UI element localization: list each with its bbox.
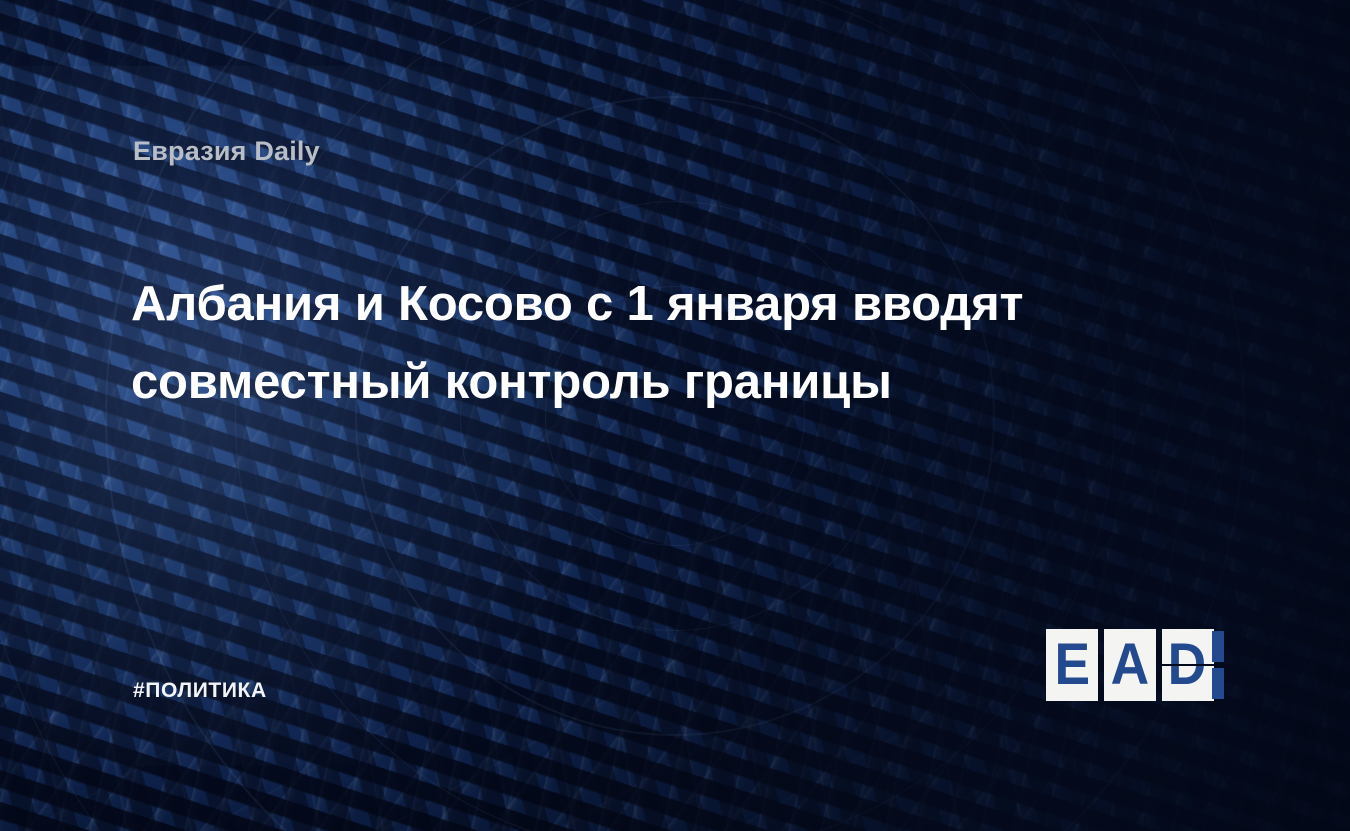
logo-letter-a: A [1111, 636, 1150, 694]
logo-letter-d-top: D [1168, 629, 1207, 664]
publisher-watermark: Евразия Daily [133, 136, 320, 167]
social-share-card: Евразия Daily Албания и Косово с 1 январ… [0, 0, 1350, 831]
logo-letter-d-bottom: D [1168, 666, 1207, 701]
logo-d-overhang-top [1212, 631, 1224, 662]
eadaily-logo[interactable]: E A D D [1046, 629, 1214, 701]
logo-tile-d-top-half: D [1162, 629, 1214, 664]
logo-tile-a: A [1104, 629, 1156, 701]
category-hashtag[interactable]: #ПОЛИТИКА [133, 679, 267, 703]
logo-tile-d: D D [1162, 629, 1214, 701]
logo-tile-d-bottom-half: D [1162, 666, 1214, 701]
logo-letter-e: E [1054, 636, 1090, 694]
page-title: Албания и Косово с 1 января вводят совме… [131, 265, 1031, 421]
logo-d-overhang-bottom [1212, 668, 1224, 699]
logo-tile-e: E [1046, 629, 1098, 701]
